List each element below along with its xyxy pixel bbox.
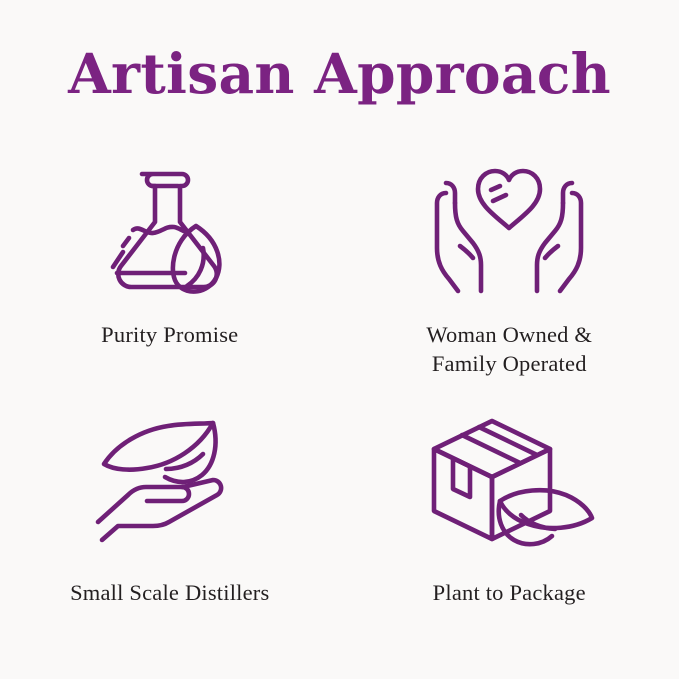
feature-grid: Purity Promise — [0, 155, 679, 655]
hand-holding-leaf-icon — [92, 405, 247, 555]
feature-item-small-scale-distillers: Small Scale Distillers — [0, 405, 340, 655]
feature-label: Small Scale Distillers — [70, 579, 269, 608]
feature-item-woman-owned: Woman Owned & Family Operated — [340, 155, 679, 405]
box-leaf-icon — [422, 405, 597, 555]
feature-label: Woman Owned & Family Operated — [426, 321, 592, 379]
hands-holding-heart-icon — [424, 155, 594, 305]
feature-item-plant-to-package: Plant to Package — [340, 405, 679, 655]
feature-item-purity-promise: Purity Promise — [0, 155, 340, 405]
page-title: Artisan Approach — [0, 44, 679, 105]
feature-label: Plant to Package — [433, 579, 586, 608]
artisan-approach-infographic: Artisan Approach — [0, 0, 679, 679]
feature-label: Purity Promise — [101, 321, 238, 350]
flask-leaf-icon — [95, 155, 245, 305]
